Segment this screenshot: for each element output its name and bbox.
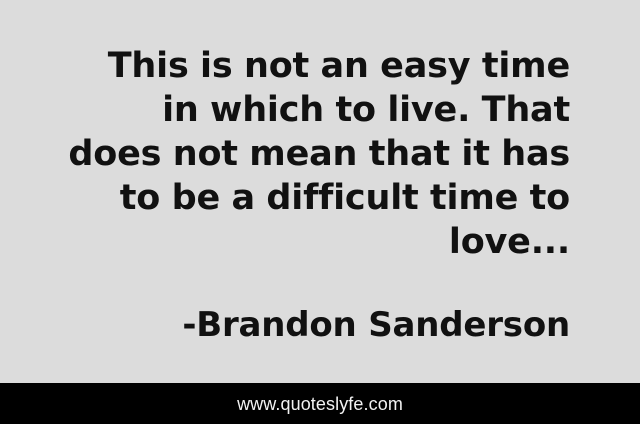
- footer-website-label: www.quoteslyfe.com: [237, 395, 403, 413]
- quote-content-area: This is not an easy time in which to liv…: [0, 0, 640, 383]
- footer-bar: www.quoteslyfe.com: [0, 383, 640, 424]
- quote-card: This is not an easy time in which to liv…: [0, 0, 640, 424]
- quote-text: This is not an easy time in which to liv…: [62, 44, 570, 264]
- quote-author-attribution: -Brandon Sanderson: [62, 305, 570, 345]
